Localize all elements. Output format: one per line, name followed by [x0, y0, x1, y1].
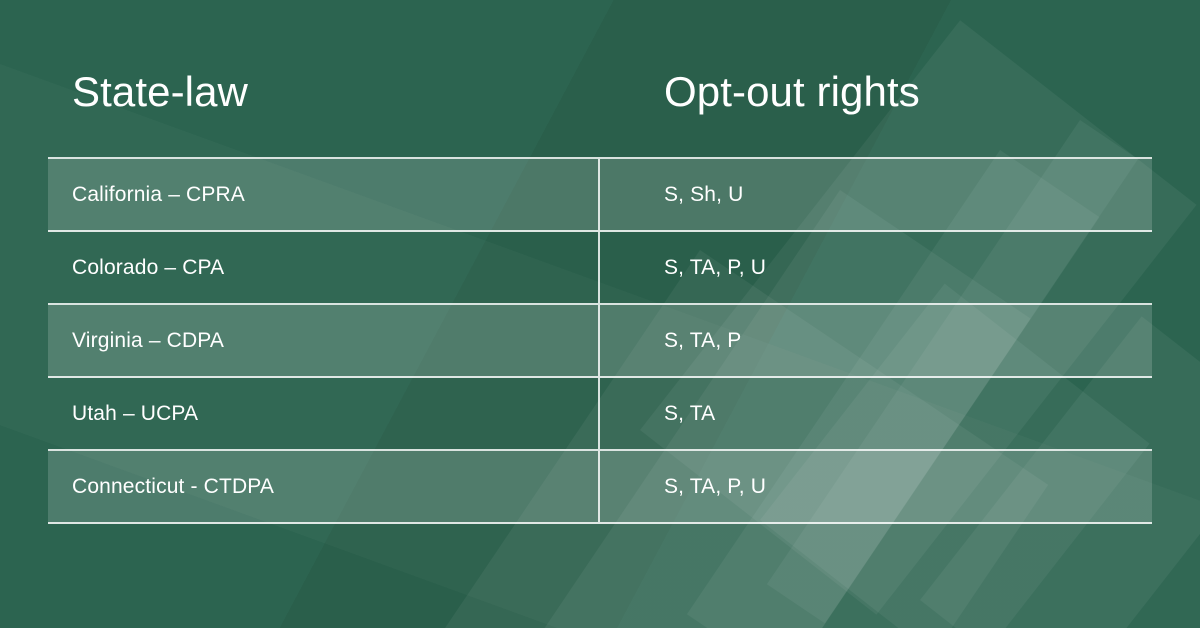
cell-state-law: Connecticut - CTDPA	[48, 451, 600, 522]
infographic-table-slide: State-law Opt-out rights California – CP…	[0, 0, 1200, 628]
table-header-row: State-law Opt-out rights	[48, 66, 1152, 140]
cell-opt-out-rights: S, Sh, U	[600, 159, 1152, 230]
cell-state-law: Utah – UCPA	[48, 378, 600, 449]
cell-opt-out-rights: S, TA, P, U	[600, 451, 1152, 522]
cell-state-law: California – CPRA	[48, 159, 600, 230]
column-header-state-law: State-law	[72, 66, 248, 118]
state-law-table: California – CPRA S, Sh, U Colorado – CP…	[48, 157, 1152, 524]
cell-opt-out-rights: S, TA	[600, 378, 1152, 449]
cell-state-law: Virginia – CDPA	[48, 305, 600, 376]
table-row: Connecticut - CTDPA S, TA, P, U	[48, 451, 1152, 524]
table-row: Virginia – CDPA S, TA, P	[48, 305, 1152, 378]
table-row: Utah – UCPA S, TA	[48, 378, 1152, 451]
cell-opt-out-rights: S, TA, P, U	[600, 232, 1152, 303]
cell-state-law: Colorado – CPA	[48, 232, 600, 303]
table-row: California – CPRA S, Sh, U	[48, 159, 1152, 232]
column-header-opt-out-rights: Opt-out rights	[664, 66, 920, 118]
cell-opt-out-rights: S, TA, P	[600, 305, 1152, 376]
table-row: Colorado – CPA S, TA, P, U	[48, 232, 1152, 305]
